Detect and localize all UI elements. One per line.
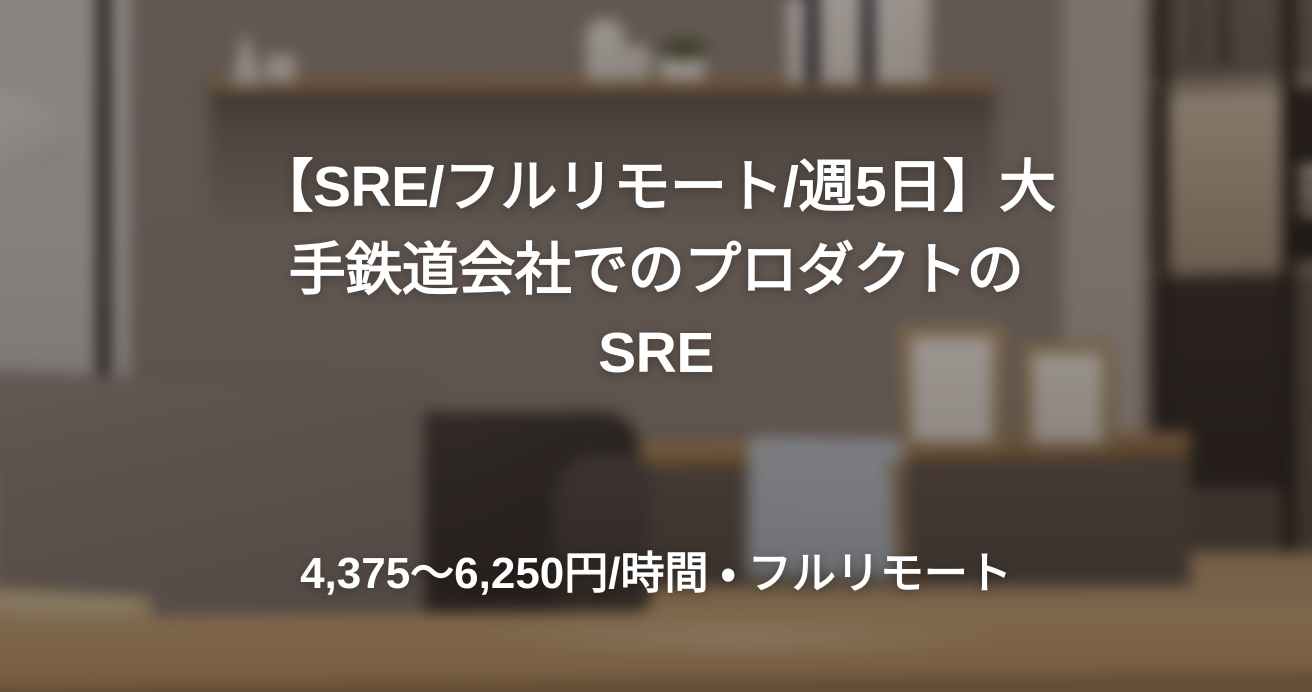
job-meta-line: 4,375〜6,250円/時間 ・ フルリモート (106, 548, 1206, 601)
hero-content: 【SRE/フルリモート/週5日】大手鉄道会社でのプロダクトのSRE 4,375〜… (0, 0, 1312, 692)
page-title: 【SRE/フルリモート/週5日】大手鉄道会社でのプロダクトのSRE (256, 146, 1056, 396)
job-posting-hero-card: 【SRE/フルリモート/週5日】大手鉄道会社でのプロダクトのSRE 4,375〜… (0, 0, 1312, 692)
